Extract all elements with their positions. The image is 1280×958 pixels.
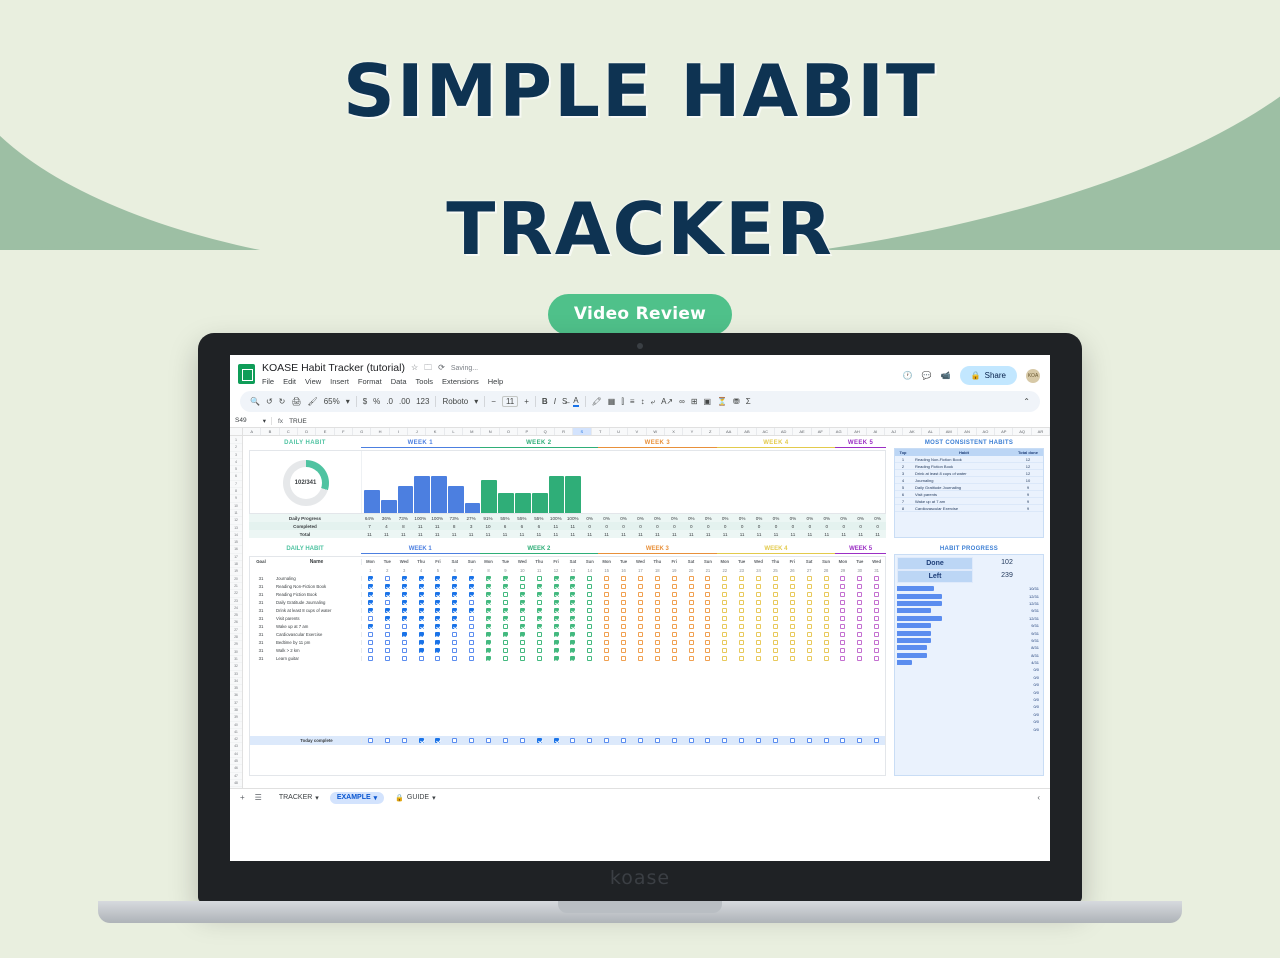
checkbox-cell[interactable] — [463, 624, 480, 629]
checkbox-cell[interactable] — [598, 616, 615, 621]
checkbox-cell[interactable] — [700, 608, 717, 613]
habit-checkbox[interactable] — [452, 640, 457, 645]
habit-checkbox[interactable] — [840, 632, 845, 637]
habit-checkbox[interactable] — [587, 608, 592, 613]
checkbox-cell[interactable] — [362, 608, 379, 613]
checkbox-cell[interactable] — [379, 632, 396, 637]
habit-checkbox[interactable] — [452, 616, 457, 621]
habit-checkbox[interactable] — [840, 648, 845, 653]
habit-checkbox[interactable] — [840, 584, 845, 589]
checkbox-cell[interactable] — [581, 624, 598, 629]
checkbox-cell[interactable] — [581, 608, 598, 613]
checkbox-cell[interactable] — [379, 616, 396, 621]
today-cell[interactable] — [379, 738, 396, 743]
habit-checkbox[interactable] — [469, 608, 474, 613]
sum-icon[interactable]: Σ — [746, 397, 751, 406]
checkbox-cell[interactable] — [531, 648, 548, 653]
percent-icon[interactable]: % — [373, 397, 380, 406]
today-checkbox[interactable] — [554, 738, 559, 743]
today-checkbox[interactable] — [840, 738, 845, 743]
row-header-10[interactable]: 10 — [230, 503, 242, 510]
habit-checkbox[interactable] — [503, 656, 508, 661]
checkbox-cell[interactable] — [548, 624, 565, 629]
checkbox-cell[interactable] — [716, 608, 733, 613]
habit-checkbox[interactable] — [503, 616, 508, 621]
habit-checkbox[interactable] — [604, 640, 609, 645]
habit-checkbox[interactable] — [638, 624, 643, 629]
checkbox-cell[interactable] — [835, 632, 852, 637]
habit-checkbox[interactable] — [655, 616, 660, 621]
habit-checkbox[interactable] — [452, 624, 457, 629]
checkbox-cell[interactable] — [581, 616, 598, 621]
today-checkbox[interactable] — [604, 738, 609, 743]
add-sheet-button[interactable]: + — [240, 794, 245, 802]
checkbox-cell[interactable] — [565, 656, 582, 661]
habit-checkbox[interactable] — [368, 584, 373, 589]
habit-checkbox[interactable] — [402, 656, 407, 661]
habit-checkbox[interactable] — [368, 616, 373, 621]
habit-checkbox[interactable] — [402, 640, 407, 645]
habit-checkbox[interactable] — [705, 584, 710, 589]
habit-checkbox[interactable] — [587, 584, 592, 589]
habit-checkbox[interactable] — [773, 656, 778, 661]
habit-checkbox[interactable] — [756, 632, 761, 637]
habit-checkbox[interactable] — [604, 576, 609, 581]
sheet-tab-tracker[interactable]: TRACKER▾ — [272, 792, 326, 804]
habit-checkbox[interactable] — [621, 592, 626, 597]
habit-checkbox[interactable] — [435, 608, 440, 613]
checkbox-cell[interactable] — [649, 632, 666, 637]
habit-checkbox[interactable] — [503, 576, 508, 581]
habit-checkbox[interactable] — [874, 656, 879, 661]
today-cell[interactable] — [480, 738, 497, 743]
habit-checkbox[interactable] — [385, 656, 390, 661]
checkbox-cell[interactable] — [733, 584, 750, 589]
column-header-p[interactable]: P — [518, 428, 536, 435]
habit-checkbox[interactable] — [655, 640, 660, 645]
checkbox-cell[interactable] — [514, 608, 531, 613]
checkbox-cell[interactable] — [733, 592, 750, 597]
checkbox-cell[interactable] — [396, 632, 413, 637]
habit-checkbox[interactable] — [452, 656, 457, 661]
menu-edit[interactable]: Edit — [283, 377, 296, 386]
row-header-11[interactable]: 11 — [230, 510, 242, 517]
habit-checkbox[interactable] — [857, 592, 862, 597]
habit-checkbox[interactable] — [554, 624, 559, 629]
currency-icon[interactable]: $ — [363, 397, 367, 406]
column-header-i[interactable]: I — [390, 428, 408, 435]
today-cell[interactable] — [514, 738, 531, 743]
row-header-43[interactable]: 43 — [230, 743, 242, 750]
checkbox-cell[interactable] — [463, 616, 480, 621]
filter-icon[interactable]: ⏳ — [717, 397, 727, 406]
habit-checkbox[interactable] — [689, 632, 694, 637]
checkbox-cell[interactable] — [733, 624, 750, 629]
checkbox-cell[interactable] — [581, 656, 598, 661]
habit-checkbox[interactable] — [587, 592, 592, 597]
habit-checkbox[interactable] — [722, 608, 727, 613]
sheet-tab-guide[interactable]: 🔒GUIDE▾ — [388, 792, 442, 804]
checkbox-cell[interactable] — [497, 624, 514, 629]
checkbox-cell[interactable] — [548, 576, 565, 581]
today-checkbox[interactable] — [469, 738, 474, 743]
habit-checkbox[interactable] — [739, 640, 744, 645]
habit-checkbox[interactable] — [807, 600, 812, 605]
checkbox-cell[interactable] — [868, 648, 885, 653]
checkbox-cell[interactable] — [430, 624, 447, 629]
habit-checkbox[interactable] — [469, 592, 474, 597]
checkbox-cell[interactable] — [750, 632, 767, 637]
habit-checkbox[interactable] — [790, 648, 795, 653]
checkbox-cell[interactable] — [750, 592, 767, 597]
checkbox-cell[interactable] — [413, 608, 430, 613]
today-checkbox[interactable] — [587, 738, 592, 743]
checkbox-cell[interactable] — [497, 616, 514, 621]
strikethrough-icon[interactable]: S̶ — [562, 397, 567, 406]
checkbox-cell[interactable] — [784, 648, 801, 653]
row-header-8[interactable]: 8 — [230, 488, 242, 495]
habit-checkbox[interactable] — [435, 576, 440, 581]
today-checkbox[interactable] — [368, 738, 373, 743]
checkbox-cell[interactable] — [733, 640, 750, 645]
column-header-aq[interactable]: AQ — [1013, 428, 1031, 435]
row-header-1[interactable]: 1 — [230, 437, 242, 444]
checkbox-cell[interactable] — [581, 576, 598, 581]
habit-checkbox[interactable] — [824, 648, 829, 653]
today-cell[interactable] — [565, 738, 582, 743]
habit-checkbox[interactable] — [486, 656, 491, 661]
row-header-32[interactable]: 32 — [230, 663, 242, 670]
habit-checkbox[interactable] — [520, 592, 525, 597]
habit-checkbox[interactable] — [402, 624, 407, 629]
habit-checkbox[interactable] — [486, 648, 491, 653]
checkbox-cell[interactable] — [700, 584, 717, 589]
today-checkbox[interactable] — [503, 738, 508, 743]
habit-checkbox[interactable] — [705, 648, 710, 653]
habit-checkbox[interactable] — [874, 608, 879, 613]
avatar[interactable]: KOA — [1026, 369, 1040, 383]
habit-checkbox[interactable] — [756, 640, 761, 645]
habit-checkbox[interactable] — [435, 656, 440, 661]
checkbox-cell[interactable] — [480, 584, 497, 589]
habit-checkbox[interactable] — [824, 616, 829, 621]
checkbox-cell[interactable] — [767, 648, 784, 653]
habit-checkbox[interactable] — [570, 576, 575, 581]
checkbox-cell[interactable] — [598, 632, 615, 637]
checkbox-cell[interactable] — [430, 648, 447, 653]
habit-checkbox[interactable] — [554, 584, 559, 589]
checkbox-cell[interactable] — [430, 592, 447, 597]
checkbox-cell[interactable] — [784, 584, 801, 589]
insert-comment-icon[interactable]: ⊞ — [691, 397, 698, 406]
column-header-b[interactable]: B — [261, 428, 279, 435]
habit-checkbox[interactable] — [790, 608, 795, 613]
habit-checkbox[interactable] — [570, 584, 575, 589]
habit-checkbox[interactable] — [807, 616, 812, 621]
row-header-4[interactable]: 4 — [230, 459, 242, 466]
habit-checkbox[interactable] — [385, 600, 390, 605]
checkbox-cell[interactable] — [868, 632, 885, 637]
checkbox-cell[interactable] — [379, 584, 396, 589]
habit-checkbox[interactable] — [570, 592, 575, 597]
checkbox-cell[interactable] — [683, 616, 700, 621]
checkbox-cell[interactable] — [565, 632, 582, 637]
habit-checkbox[interactable] — [520, 584, 525, 589]
checkbox-cell[interactable] — [868, 624, 885, 629]
today-cell[interactable] — [548, 738, 565, 743]
row-header-40[interactable]: 40 — [230, 722, 242, 729]
checkbox-cell[interactable] — [818, 576, 835, 581]
comment-icon[interactable]: 💬 — [922, 372, 932, 380]
habit-checkbox[interactable] — [840, 656, 845, 661]
cell-habit-name[interactable]: Reading Fiction Book — [272, 592, 362, 597]
habit-checkbox[interactable] — [621, 640, 626, 645]
checkbox-cell[interactable] — [666, 624, 683, 629]
document-title[interactable]: KOASE Habit Tracker (tutorial) — [262, 362, 405, 374]
today-checkbox[interactable] — [419, 738, 424, 743]
habit-checkbox[interactable] — [638, 632, 643, 637]
column-header-ao[interactable]: AO — [977, 428, 995, 435]
row-header-35[interactable]: 35 — [230, 685, 242, 692]
checkbox-cell[interactable] — [413, 600, 430, 605]
today-cell[interactable] — [649, 738, 666, 743]
habit-checkbox[interactable] — [469, 576, 474, 581]
chevron-down-icon[interactable]: ▾ — [374, 794, 378, 802]
column-header-e[interactable]: E — [316, 428, 334, 435]
checkbox-cell[interactable] — [514, 584, 531, 589]
checkbox-cell[interactable] — [716, 584, 733, 589]
column-header-ap[interactable]: AP — [995, 428, 1013, 435]
checkbox-cell[interactable] — [413, 576, 430, 581]
checkbox-cell[interactable] — [497, 608, 514, 613]
habit-checkbox[interactable] — [570, 648, 575, 653]
checkbox-cell[interactable] — [396, 624, 413, 629]
habit-checkbox[interactable] — [773, 576, 778, 581]
checkbox-cell[interactable] — [649, 576, 666, 581]
redo-icon[interactable]: ↻ — [279, 397, 286, 406]
habit-checkbox[interactable] — [452, 592, 457, 597]
habit-checkbox[interactable] — [368, 640, 373, 645]
column-header-al[interactable]: AL — [922, 428, 940, 435]
habit-checkbox[interactable] — [722, 584, 727, 589]
checkbox-cell[interactable] — [767, 600, 784, 605]
row-header-13[interactable]: 13 — [230, 525, 242, 532]
habit-checkbox[interactable] — [385, 640, 390, 645]
habit-checkbox[interactable] — [857, 640, 862, 645]
cell-habit-name[interactable]: Daily Gratitude Journaling — [272, 600, 362, 605]
today-cell[interactable] — [835, 738, 852, 743]
checkbox-cell[interactable] — [818, 584, 835, 589]
habit-checkbox[interactable] — [807, 592, 812, 597]
habit-checkbox[interactable] — [419, 608, 424, 613]
today-checkbox[interactable] — [435, 738, 440, 743]
today-cell[interactable] — [463, 738, 480, 743]
checkbox-cell[interactable] — [362, 648, 379, 653]
habit-checkbox[interactable] — [554, 592, 559, 597]
habit-checkbox[interactable] — [486, 608, 491, 613]
habit-checkbox[interactable] — [857, 648, 862, 653]
habit-checkbox[interactable] — [874, 640, 879, 645]
checkbox-cell[interactable] — [531, 616, 548, 621]
habit-checkbox[interactable] — [503, 640, 508, 645]
row-header-37[interactable]: 37 — [230, 700, 242, 707]
version-history-icon[interactable]: 🕐 — [903, 372, 913, 380]
row-header-17[interactable]: 17 — [230, 554, 242, 561]
horizontal-align-icon[interactable]: ≡ — [630, 397, 635, 406]
row-header-9[interactable]: 9 — [230, 495, 242, 502]
checkbox-cell[interactable] — [396, 608, 413, 613]
checkbox-cell[interactable] — [835, 600, 852, 605]
habit-checkbox[interactable] — [655, 656, 660, 661]
checkbox-cell[interactable] — [801, 656, 818, 661]
column-header-r[interactable]: R — [555, 428, 573, 435]
checkbox-cell[interactable] — [396, 592, 413, 597]
checkbox-cell[interactable] — [480, 600, 497, 605]
habit-checkbox[interactable] — [722, 600, 727, 605]
habit-checkbox[interactable] — [807, 608, 812, 613]
today-checkbox[interactable] — [807, 738, 812, 743]
checkbox-cell[interactable] — [666, 608, 683, 613]
checkbox-cell[interactable] — [379, 592, 396, 597]
habit-checkbox[interactable] — [419, 656, 424, 661]
vertical-align-icon[interactable]: ↕ — [641, 397, 645, 406]
checkbox-cell[interactable] — [801, 600, 818, 605]
habit-checkbox[interactable] — [773, 584, 778, 589]
habit-checkbox[interactable] — [655, 584, 660, 589]
checkbox-cell[interactable] — [801, 608, 818, 613]
habit-checkbox[interactable] — [621, 648, 626, 653]
today-cell[interactable] — [396, 738, 413, 743]
habit-checkbox[interactable] — [435, 600, 440, 605]
habit-checkbox[interactable] — [824, 656, 829, 661]
habit-checkbox[interactable] — [537, 608, 542, 613]
habit-checkbox[interactable] — [773, 616, 778, 621]
habit-checkbox[interactable] — [570, 632, 575, 637]
checkbox-cell[interactable] — [767, 584, 784, 589]
habit-checkbox[interactable] — [756, 648, 761, 653]
habit-checkbox[interactable] — [537, 632, 542, 637]
habit-checkbox[interactable] — [554, 640, 559, 645]
habit-checkbox[interactable] — [469, 656, 474, 661]
habit-checkbox[interactable] — [756, 608, 761, 613]
habit-checkbox[interactable] — [604, 648, 609, 653]
today-cell[interactable] — [784, 738, 801, 743]
column-header-o[interactable]: O — [500, 428, 518, 435]
checkbox-cell[interactable] — [649, 592, 666, 597]
checkbox-cell[interactable] — [497, 656, 514, 661]
today-cell[interactable] — [531, 738, 548, 743]
checkbox-cell[interactable] — [632, 632, 649, 637]
share-button[interactable]: 🔒 Share — [960, 366, 1017, 385]
checkbox-cell[interactable] — [683, 600, 700, 605]
habit-checkbox[interactable] — [435, 624, 440, 629]
checkbox-cell[interactable] — [835, 584, 852, 589]
checkbox-cell[interactable] — [362, 576, 379, 581]
checkbox-cell[interactable] — [851, 600, 868, 605]
checkbox-cell[interactable] — [868, 616, 885, 621]
row-header-47[interactable]: 47 — [230, 773, 242, 780]
checkbox-cell[interactable] — [683, 584, 700, 589]
cell-habit-name[interactable]: Learn guitar — [272, 656, 362, 661]
habit-checkbox[interactable] — [689, 600, 694, 605]
checkbox-cell[interactable] — [548, 656, 565, 661]
row-header-36[interactable]: 36 — [230, 692, 242, 699]
habit-checkbox[interactable] — [402, 584, 407, 589]
row-header-28[interactable]: 28 — [230, 634, 242, 641]
habit-checkbox[interactable] — [756, 584, 761, 589]
checkbox-cell[interactable] — [548, 640, 565, 645]
habit-checkbox[interactable] — [722, 632, 727, 637]
checkbox-cell[interactable] — [531, 600, 548, 605]
menu-data[interactable]: Data — [391, 377, 407, 386]
habit-checkbox[interactable] — [824, 640, 829, 645]
checkbox-cell[interactable] — [683, 640, 700, 645]
habit-checkbox[interactable] — [469, 632, 474, 637]
checkbox-cell[interactable] — [632, 608, 649, 613]
habit-checkbox[interactable] — [537, 600, 542, 605]
checkbox-cell[interactable] — [581, 640, 598, 645]
today-checkbox[interactable] — [672, 738, 677, 743]
habit-checkbox[interactable] — [638, 584, 643, 589]
row-header-15[interactable]: 15 — [230, 539, 242, 546]
habit-checkbox[interactable] — [419, 592, 424, 597]
habit-checkbox[interactable] — [840, 616, 845, 621]
habit-checkbox[interactable] — [689, 576, 694, 581]
checkbox-cell[interactable] — [767, 616, 784, 621]
checkbox-cell[interactable] — [750, 608, 767, 613]
checkbox-cell[interactable] — [379, 648, 396, 653]
video-review-button[interactable]: Video Review — [548, 294, 732, 335]
habit-checkbox[interactable] — [503, 648, 508, 653]
checkbox-cell[interactable] — [733, 616, 750, 621]
row-header-23[interactable]: 23 — [230, 598, 242, 605]
column-header-x[interactable]: X — [665, 428, 683, 435]
habit-checkbox[interactable] — [790, 584, 795, 589]
checkbox-cell[interactable] — [835, 656, 852, 661]
checkbox-cell[interactable] — [784, 632, 801, 637]
checkbox-cell[interactable] — [649, 608, 666, 613]
habit-checkbox[interactable] — [807, 576, 812, 581]
habit-checkbox[interactable] — [554, 632, 559, 637]
checkbox-cell[interactable] — [446, 592, 463, 597]
habit-checkbox[interactable] — [486, 600, 491, 605]
checkbox-cell[interactable] — [835, 592, 852, 597]
habit-checkbox[interactable] — [840, 576, 845, 581]
checkbox-cell[interactable] — [632, 592, 649, 597]
checkbox-cell[interactable] — [784, 608, 801, 613]
checkbox-cell[interactable] — [615, 584, 632, 589]
habit-checkbox[interactable] — [419, 600, 424, 605]
checkbox-cell[interactable] — [598, 576, 615, 581]
habit-checkbox[interactable] — [857, 632, 862, 637]
habit-checkbox[interactable] — [486, 584, 491, 589]
checkbox-cell[interactable] — [851, 632, 868, 637]
habit-checkbox[interactable] — [621, 624, 626, 629]
habit-checkbox[interactable] — [469, 616, 474, 621]
checkbox-cell[interactable] — [801, 592, 818, 597]
habit-checkbox[interactable] — [385, 648, 390, 653]
habit-checkbox[interactable] — [435, 640, 440, 645]
checkbox-cell[interactable] — [733, 608, 750, 613]
more-formats-icon[interactable]: 123 — [416, 397, 429, 406]
habit-checkbox[interactable] — [419, 616, 424, 621]
checkbox-cell[interactable] — [497, 592, 514, 597]
font-size-input[interactable]: 11 — [502, 396, 518, 407]
habit-checkbox[interactable] — [368, 592, 373, 597]
row-header-2[interactable]: 2 — [230, 444, 242, 451]
paint-format-icon[interactable]: 🖌 — [308, 397, 318, 406]
habit-checkbox[interactable] — [604, 608, 609, 613]
